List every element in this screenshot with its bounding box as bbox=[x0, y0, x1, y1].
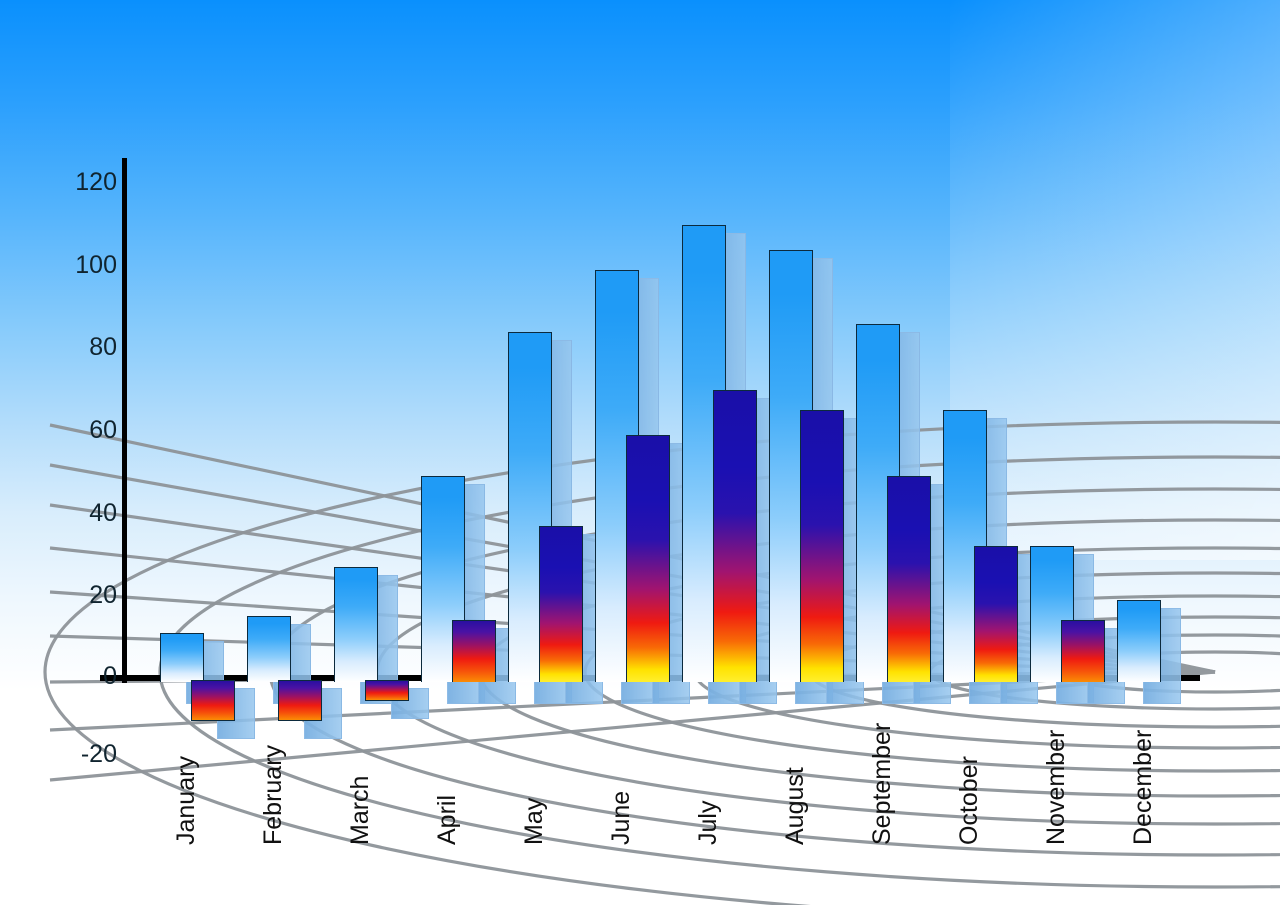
bar-series1-december[interactable] bbox=[1117, 600, 1161, 682]
bar-series2-january[interactable] bbox=[191, 680, 235, 721]
y-tick-120: 120 bbox=[55, 168, 117, 197]
y-tick-60: 60 bbox=[55, 416, 117, 445]
x-label-august: August bbox=[781, 767, 810, 845]
plot-area: 120 100 80 60 40 20 0 -20 JanuaryFebruar… bbox=[0, 0, 1280, 905]
bar-series2-august[interactable] bbox=[800, 410, 844, 682]
bar-series2-july[interactable] bbox=[713, 390, 757, 682]
y-tick-20: 20 bbox=[55, 581, 117, 610]
bar-series2-february[interactable] bbox=[278, 680, 322, 721]
y-tick-100: 100 bbox=[55, 251, 117, 280]
x-label-april: April bbox=[433, 795, 462, 845]
y-tick-neg20: -20 bbox=[50, 740, 117, 769]
x-label-october: October bbox=[955, 756, 984, 845]
x-label-january: January bbox=[172, 756, 201, 845]
chart-root: 120 100 80 60 40 20 0 -20 JanuaryFebruar… bbox=[0, 0, 1280, 905]
x-label-june: June bbox=[607, 791, 636, 845]
x-label-november: November bbox=[1042, 730, 1071, 845]
x-label-may: May bbox=[520, 798, 549, 845]
y-axis-line bbox=[122, 158, 127, 683]
x-label-march: March bbox=[346, 776, 375, 845]
bar-series2-june[interactable] bbox=[626, 435, 670, 682]
bar-series1-february[interactable] bbox=[247, 616, 291, 682]
bar-series1-january[interactable] bbox=[160, 633, 204, 682]
bar-series1-march[interactable] bbox=[334, 567, 378, 682]
y-tick-0: 0 bbox=[55, 662, 117, 691]
bar-series2-september[interactable] bbox=[887, 476, 931, 682]
bar-series2-may[interactable] bbox=[539, 526, 583, 682]
bar-series2-april[interactable] bbox=[452, 620, 496, 682]
bar-series2-november[interactable] bbox=[1061, 620, 1105, 682]
x-label-july: July bbox=[694, 801, 723, 845]
x-label-september: September bbox=[868, 723, 897, 845]
y-tick-40: 40 bbox=[55, 499, 117, 528]
x-label-december: December bbox=[1129, 730, 1158, 845]
x-label-february: February bbox=[259, 745, 288, 845]
bar-series2-march[interactable] bbox=[365, 680, 409, 701]
bar-series2-october[interactable] bbox=[974, 546, 1018, 682]
y-tick-80: 80 bbox=[55, 333, 117, 362]
